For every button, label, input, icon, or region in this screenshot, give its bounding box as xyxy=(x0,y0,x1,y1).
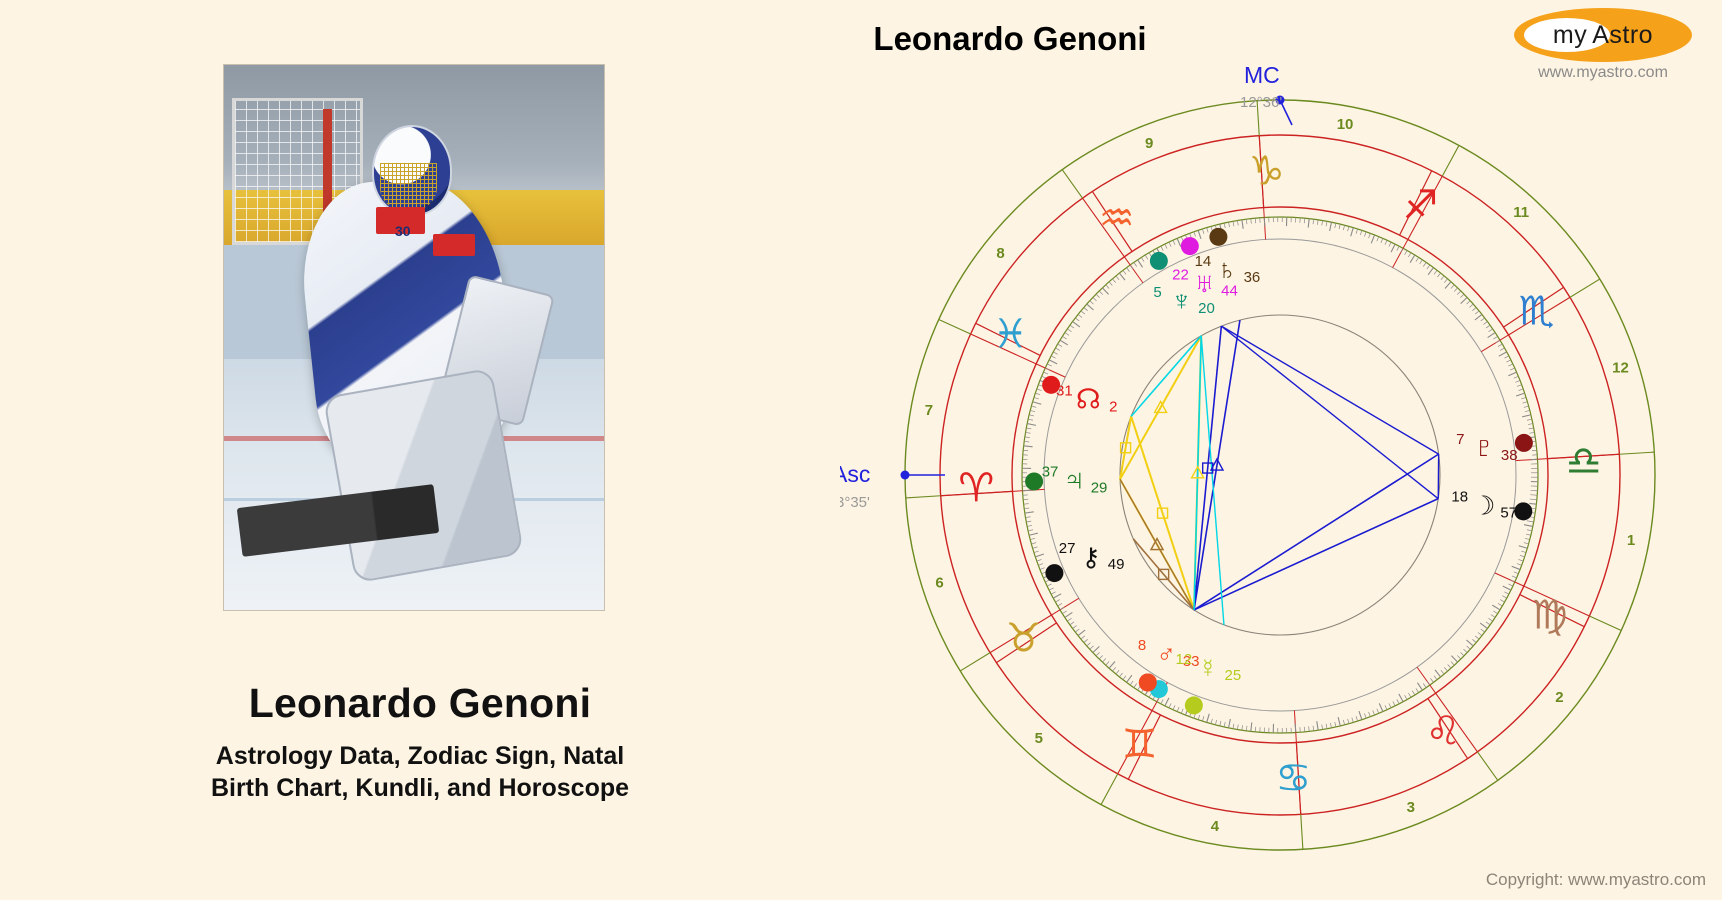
degree-tick xyxy=(1084,307,1088,310)
degree-tick xyxy=(1134,684,1137,688)
planet-degree-moon: 18 xyxy=(1451,488,1468,505)
degree-tick xyxy=(1451,285,1454,289)
degree-tick xyxy=(1359,711,1362,720)
degree-tick xyxy=(1031,543,1036,544)
degree-tick xyxy=(1246,726,1247,731)
degree-tick xyxy=(1397,246,1399,250)
degree-tick xyxy=(1309,726,1310,731)
degree-tick xyxy=(1475,636,1479,639)
degree-tick xyxy=(1233,221,1234,226)
degree-tick xyxy=(1393,701,1395,705)
asc-degree: 3°35' xyxy=(840,494,870,511)
planet-dot-jupiter[interactable] xyxy=(1025,472,1043,490)
planet-minute-saturn: 36 xyxy=(1244,269,1261,286)
degree-tick xyxy=(1352,718,1353,723)
degree-tick xyxy=(1516,393,1525,396)
degree-tick xyxy=(1229,719,1231,728)
degree-tick xyxy=(1177,707,1179,712)
planet-dot-saturn[interactable] xyxy=(1209,228,1227,246)
degree-tick xyxy=(1106,285,1109,289)
house-number-9: 9 xyxy=(1145,135,1153,152)
degree-tick xyxy=(1405,250,1407,254)
aspect-line xyxy=(1221,326,1438,499)
degree-tick xyxy=(1030,410,1035,411)
house-number-4: 4 xyxy=(1211,818,1220,835)
degree-tick xyxy=(1127,675,1132,682)
degree-tick xyxy=(1049,588,1053,590)
degree-tick xyxy=(1067,329,1071,332)
degree-tick xyxy=(1134,262,1137,266)
zodiac-glyph-taurus: ♉ xyxy=(1006,616,1042,660)
planet-minute-north-node: 2 xyxy=(1109,399,1117,416)
degree-tick xyxy=(1116,276,1119,280)
asc-label: Asc xyxy=(840,461,870,487)
degree-tick xyxy=(1161,246,1163,250)
degree-tick xyxy=(1427,681,1430,685)
degree-tick xyxy=(1408,253,1411,257)
photo-illustration: 30 xyxy=(224,65,604,610)
degree-tick xyxy=(1033,402,1042,405)
degree-tick xyxy=(1348,226,1349,231)
house-number-7: 7 xyxy=(925,402,933,419)
sign-ring-inner xyxy=(1012,207,1548,743)
degree-tick xyxy=(1339,224,1340,229)
zodiac-glyph-pisces: ♓ xyxy=(992,313,1028,357)
degree-tick xyxy=(1025,437,1030,438)
planet-minute-pluto: 38 xyxy=(1501,447,1518,464)
degree-tick xyxy=(1504,592,1508,594)
degree-tick xyxy=(1498,603,1502,606)
degree-tick xyxy=(1478,632,1482,635)
degree-tick xyxy=(1024,508,1029,509)
degree-tick xyxy=(1526,534,1531,535)
degree-tick xyxy=(1087,643,1091,646)
degree-tick xyxy=(1295,724,1296,733)
degree-tick xyxy=(1492,605,1500,610)
degree-tick xyxy=(1489,618,1493,621)
degree-tick xyxy=(1391,244,1395,252)
degree-tick xyxy=(1112,667,1115,671)
degree-tick xyxy=(1338,717,1340,726)
degree-tick xyxy=(1445,282,1451,289)
degree-tick xyxy=(1519,546,1528,549)
degree-tick xyxy=(1389,242,1391,247)
degree-tick xyxy=(1047,584,1052,586)
degree-tick xyxy=(1493,336,1497,339)
planet-minute-neptune: 20 xyxy=(1198,300,1215,317)
degree-tick xyxy=(1022,490,1031,491)
planet-dot-neptune[interactable] xyxy=(1150,252,1168,270)
degree-tick xyxy=(1512,576,1517,578)
planet-dot-mars[interactable] xyxy=(1139,673,1157,691)
degree-tick xyxy=(1031,406,1036,407)
degree-tick xyxy=(1116,670,1119,674)
house-number-6: 6 xyxy=(935,574,943,591)
degree-tick xyxy=(1070,325,1074,328)
degree-tick xyxy=(1043,372,1048,374)
degree-tick xyxy=(1428,268,1433,275)
degree-tick xyxy=(1457,291,1461,295)
planet-dot-chiron[interactable] xyxy=(1045,564,1063,582)
degree-tick xyxy=(1224,722,1225,727)
degree-tick xyxy=(1510,580,1515,582)
degree-tick xyxy=(1045,368,1050,370)
mc-label: MC xyxy=(1244,62,1280,88)
degree-tick xyxy=(1084,639,1088,642)
outer-house-divider xyxy=(1589,616,1621,631)
degree-tick xyxy=(1364,232,1366,237)
degree-tick xyxy=(1461,297,1468,303)
person-photo: 30 xyxy=(223,64,605,611)
degree-tick xyxy=(1521,397,1526,399)
aspect-circle xyxy=(1120,315,1440,635)
house-number-12: 12 xyxy=(1612,360,1629,377)
degree-tick xyxy=(1141,257,1144,261)
planet-glyph-mercury: ☿ xyxy=(1198,653,1218,683)
zodiac-glyph-aries: ♈ xyxy=(958,466,994,510)
planet-minute-mercury: 25 xyxy=(1225,667,1242,684)
planet-glyph-chiron: ⚷ xyxy=(1082,542,1101,572)
outer-house-divider xyxy=(1442,145,1459,176)
degree-tick xyxy=(1377,237,1379,242)
planet-glyph-pluto: ♇ xyxy=(1473,431,1496,464)
page-title: Leonardo Genoni xyxy=(0,680,840,727)
degree-tick xyxy=(1351,228,1354,237)
degree-tick xyxy=(1405,695,1407,699)
degree-tick xyxy=(1530,495,1537,496)
degree-tick xyxy=(1078,314,1082,317)
degree-tick xyxy=(1410,255,1415,263)
degree-tick xyxy=(1169,242,1171,247)
degree-tick xyxy=(1220,721,1221,726)
degree-tick xyxy=(1251,219,1252,224)
house-number-3: 3 xyxy=(1407,799,1415,816)
degree-tick xyxy=(1037,559,1042,561)
degree-tick xyxy=(1102,659,1105,663)
outer-house-divider xyxy=(906,496,941,498)
degree-tick xyxy=(1119,673,1122,677)
degree-tick xyxy=(1379,703,1383,711)
house-number-1: 1 xyxy=(1627,532,1635,549)
degree-tick xyxy=(1169,703,1171,708)
degree-tick xyxy=(1246,219,1247,224)
degree-tick xyxy=(1475,314,1482,320)
degree-tick xyxy=(1364,713,1366,718)
degree-tick xyxy=(1499,352,1507,356)
degree-tick xyxy=(1058,344,1062,347)
degree-tick xyxy=(1517,385,1522,387)
degree-tick xyxy=(1369,233,1371,238)
degree-tick xyxy=(1518,559,1523,561)
planet-glyph-neptune: ♆ xyxy=(1171,285,1192,316)
degree-tick xyxy=(1528,424,1533,425)
degree-tick xyxy=(1502,596,1506,598)
degree-tick xyxy=(1237,725,1238,730)
degree-tick xyxy=(1024,504,1029,505)
degree-tick xyxy=(1423,262,1426,266)
planet-degree-north-node: 31 xyxy=(1056,383,1073,400)
degree-tick xyxy=(1081,311,1085,314)
degree-tick xyxy=(1527,419,1532,420)
degree-tick xyxy=(1435,670,1441,677)
planet-degree-chiron: 27 xyxy=(1059,540,1076,557)
degree-tick xyxy=(1397,699,1399,703)
degree-tick xyxy=(1500,348,1504,350)
house-number-2: 2 xyxy=(1555,689,1563,706)
planet-degree-pluto: 7 xyxy=(1456,431,1464,448)
degree-tick xyxy=(1475,311,1479,314)
planet-minute-chiron: 49 xyxy=(1108,556,1125,573)
degree-tick xyxy=(1472,639,1476,642)
degree-tick xyxy=(1026,517,1031,518)
degree-tick xyxy=(1423,684,1426,688)
house-cusp-inner xyxy=(1417,667,1436,693)
zodiac-glyph-leo: ♌ xyxy=(1425,709,1461,753)
degree-tick xyxy=(1026,428,1031,429)
degree-tick xyxy=(1026,432,1031,433)
planet-minute-jupiter: 29 xyxy=(1091,479,1108,496)
degree-tick xyxy=(1026,521,1031,522)
degree-tick xyxy=(1460,294,1464,298)
degree-tick xyxy=(1040,568,1045,570)
degree-tick xyxy=(1033,547,1038,548)
degree-tick xyxy=(1070,622,1074,625)
planet-degree-saturn: 14 xyxy=(1195,253,1212,270)
degree-tick xyxy=(1058,603,1062,606)
degree-tick xyxy=(1437,273,1440,277)
degree-tick xyxy=(1224,223,1225,228)
degree-band-outer xyxy=(1022,217,1538,733)
degree-tick xyxy=(1515,380,1520,382)
zodiac-glyph-scorpio: ♏ xyxy=(1518,290,1554,334)
degree-tick xyxy=(1030,538,1035,539)
degree-tick xyxy=(1215,720,1216,725)
degree-tick xyxy=(1514,376,1519,378)
degree-tick xyxy=(1508,372,1516,376)
degree-ticks xyxy=(1022,217,1538,733)
degree-tick xyxy=(1138,260,1143,268)
brand-word-astro: Astro xyxy=(1592,21,1653,50)
degree-tick xyxy=(1060,340,1068,345)
degree-tick xyxy=(1420,260,1423,264)
zodiac-glyph-aquarius: ♒ xyxy=(1099,197,1135,241)
outer-house-divider xyxy=(1570,279,1600,297)
planet-degree-mercury: 12 xyxy=(1176,651,1193,668)
house-cusp-inner xyxy=(1124,257,1143,283)
house-number-10: 10 xyxy=(1337,116,1354,133)
degree-tick xyxy=(1522,415,1531,417)
degree-tick xyxy=(1264,217,1265,226)
degree-tick xyxy=(1075,318,1079,321)
aspect-line xyxy=(1201,336,1224,625)
degree-tick xyxy=(1441,670,1444,674)
degree-tick xyxy=(1377,709,1379,714)
degree-tick xyxy=(1130,681,1133,685)
degree-tick xyxy=(1480,623,1487,628)
brand-word-my: my xyxy=(1553,21,1587,50)
degree-tick xyxy=(1356,229,1358,234)
degree-tick xyxy=(1207,228,1208,233)
degree-tick xyxy=(1529,428,1534,429)
planet-dot-pluto[interactable] xyxy=(1515,434,1533,452)
degree-tick xyxy=(1029,415,1034,416)
degree-tick xyxy=(1472,307,1476,310)
natal-chart-wheel[interactable]: ♌♋♊♉♈♓♒♑♐♏♎♍ 123456789101112 ♂833☿1225⚷2… xyxy=(840,55,1720,885)
degree-tick xyxy=(1520,555,1525,557)
page-subtitle-line2: Birth Chart, Kundli, and Horoscope xyxy=(0,772,840,804)
degree-tick xyxy=(1434,676,1437,680)
degree-tick xyxy=(1460,652,1464,656)
degree-tick xyxy=(1451,656,1457,663)
degree-tick xyxy=(1035,393,1040,395)
zodiac-glyph-libra: ♎ xyxy=(1566,440,1602,484)
zodiac-glyph-cancer: ♋ xyxy=(1275,757,1311,801)
planet-glyph-uranus: ♅ xyxy=(1194,267,1215,298)
degree-tick xyxy=(1237,221,1238,226)
degree-tick xyxy=(1486,325,1490,328)
degree-tick xyxy=(1109,282,1112,286)
degree-tick xyxy=(1198,230,1201,239)
planet-degree-jupiter: 37 xyxy=(1042,463,1059,480)
degree-tick xyxy=(1517,564,1522,566)
planet-degree-mars: 8 xyxy=(1138,637,1146,654)
degree-tick xyxy=(1027,424,1036,426)
degree-tick xyxy=(1481,318,1485,321)
degree-tick xyxy=(1161,699,1163,703)
degree-tick xyxy=(1119,273,1125,280)
degree-tick xyxy=(1360,230,1362,235)
house-number-11: 11 xyxy=(1513,204,1529,221)
degree-tick xyxy=(1028,530,1033,531)
degree-tick xyxy=(1202,229,1204,234)
outer-house-divider xyxy=(960,653,990,671)
degree-tick xyxy=(1211,719,1212,724)
degree-tick xyxy=(1313,219,1314,224)
degree-tick xyxy=(1441,276,1444,280)
degree-tick xyxy=(1065,333,1069,336)
outer-ring xyxy=(905,100,1655,850)
degree-tick xyxy=(1242,725,1243,730)
planet-glyph-moon: ☽ xyxy=(1472,490,1495,520)
left-panel: 30 Leonardo Genoni Astrology Data, Zodia… xyxy=(0,0,840,900)
degree-tick xyxy=(1399,694,1403,702)
house-number-8: 8 xyxy=(996,245,1004,262)
degree-tick xyxy=(1035,554,1044,557)
degree-tick xyxy=(1037,389,1042,391)
outer-house-divider xyxy=(1101,774,1118,805)
degree-tick xyxy=(1194,232,1196,237)
degree-tick xyxy=(1123,676,1126,680)
degree-tick xyxy=(1335,223,1336,228)
planet-glyph-saturn: ♄ xyxy=(1216,254,1237,285)
degree-tick xyxy=(1330,723,1331,728)
zodiac-glyph-capricorn: ♑ xyxy=(1249,149,1285,193)
degree-tick xyxy=(1145,255,1148,259)
degree-tick xyxy=(1062,611,1066,614)
outer-house-dividers xyxy=(906,101,1655,850)
chart-title: Leonardo Genoni xyxy=(760,20,1260,58)
degree-tick xyxy=(1408,693,1411,697)
degree-tick xyxy=(1326,724,1327,729)
degree-tick xyxy=(1322,725,1323,730)
degree-tick xyxy=(1524,525,1533,527)
degree-tick xyxy=(1177,238,1181,246)
degree-tick xyxy=(1371,235,1374,243)
degree-tick xyxy=(1093,297,1097,300)
degree-tick xyxy=(1524,406,1529,407)
aspect-line xyxy=(1131,416,1194,610)
planet-minute-moon: 57 xyxy=(1500,504,1517,521)
planet-glyph-north-node: ☊ xyxy=(1076,384,1101,415)
degree-tick xyxy=(1330,222,1332,231)
degree-tick xyxy=(1496,340,1500,343)
planet-minute-uranus: 44 xyxy=(1221,282,1238,299)
degree-tick xyxy=(1510,368,1515,370)
degree-tick xyxy=(1343,720,1344,725)
degree-tick xyxy=(1029,533,1038,535)
asc-marker: Asc 3°35' xyxy=(840,461,945,511)
degree-tick xyxy=(1506,360,1510,362)
aspect-lines xyxy=(1120,320,1439,625)
degree-tick xyxy=(1335,722,1336,727)
degree-tick xyxy=(1242,220,1243,229)
degree-tick xyxy=(1529,503,1536,504)
zodiac-glyph-gemini: ♊ xyxy=(1122,723,1158,767)
degree-tick xyxy=(1093,646,1100,652)
house-cusp-inner xyxy=(1051,598,1078,615)
degree-tick xyxy=(1053,352,1057,354)
degree-tick xyxy=(1112,279,1115,283)
degree-tick xyxy=(1165,244,1167,248)
degree-tick xyxy=(1356,716,1358,721)
degree-tick xyxy=(1202,716,1204,721)
degree-tick xyxy=(1051,592,1055,594)
jersey-number: 30 xyxy=(395,223,411,239)
degree-tick xyxy=(1065,612,1073,617)
degree-tick xyxy=(1047,364,1052,366)
degree-tick xyxy=(1427,265,1430,269)
degree-tick xyxy=(1024,446,1033,447)
degree-tick xyxy=(1308,219,1309,228)
aspect-line xyxy=(1221,326,1438,454)
house-number-5: 5 xyxy=(1035,730,1043,747)
degree-tick xyxy=(1055,600,1059,602)
degree-tick xyxy=(1457,655,1461,659)
degree-tick xyxy=(1313,726,1314,731)
degree-tick xyxy=(1034,397,1039,399)
planet-dot-mercury[interactable] xyxy=(1185,696,1203,714)
degree-tick xyxy=(1530,499,1537,500)
degree-tick xyxy=(1081,636,1085,639)
degree-tick xyxy=(1055,348,1059,350)
degree-tick xyxy=(1500,600,1504,602)
degree-tick xyxy=(1524,543,1529,544)
degree-tick xyxy=(1038,564,1043,566)
degree-tick xyxy=(1181,709,1183,714)
degree-tick xyxy=(1416,688,1419,692)
jersey-sponsor-patch-2 xyxy=(433,234,475,256)
mc-degree: 12°36' xyxy=(1240,94,1282,111)
degree-tick xyxy=(1525,538,1530,539)
degree-tick xyxy=(1373,710,1375,715)
planet-degree-neptune: 5 xyxy=(1153,284,1161,301)
degree-tick xyxy=(1451,662,1454,666)
degree-tick xyxy=(1521,551,1526,553)
planet-degree-uranus: 22 xyxy=(1172,266,1189,283)
degree-tick xyxy=(1448,664,1451,668)
astrology-report-page: 30 Leonardo Genoni Astrology Data, Zodia… xyxy=(0,0,1722,900)
outer-house-divider xyxy=(1301,814,1303,849)
